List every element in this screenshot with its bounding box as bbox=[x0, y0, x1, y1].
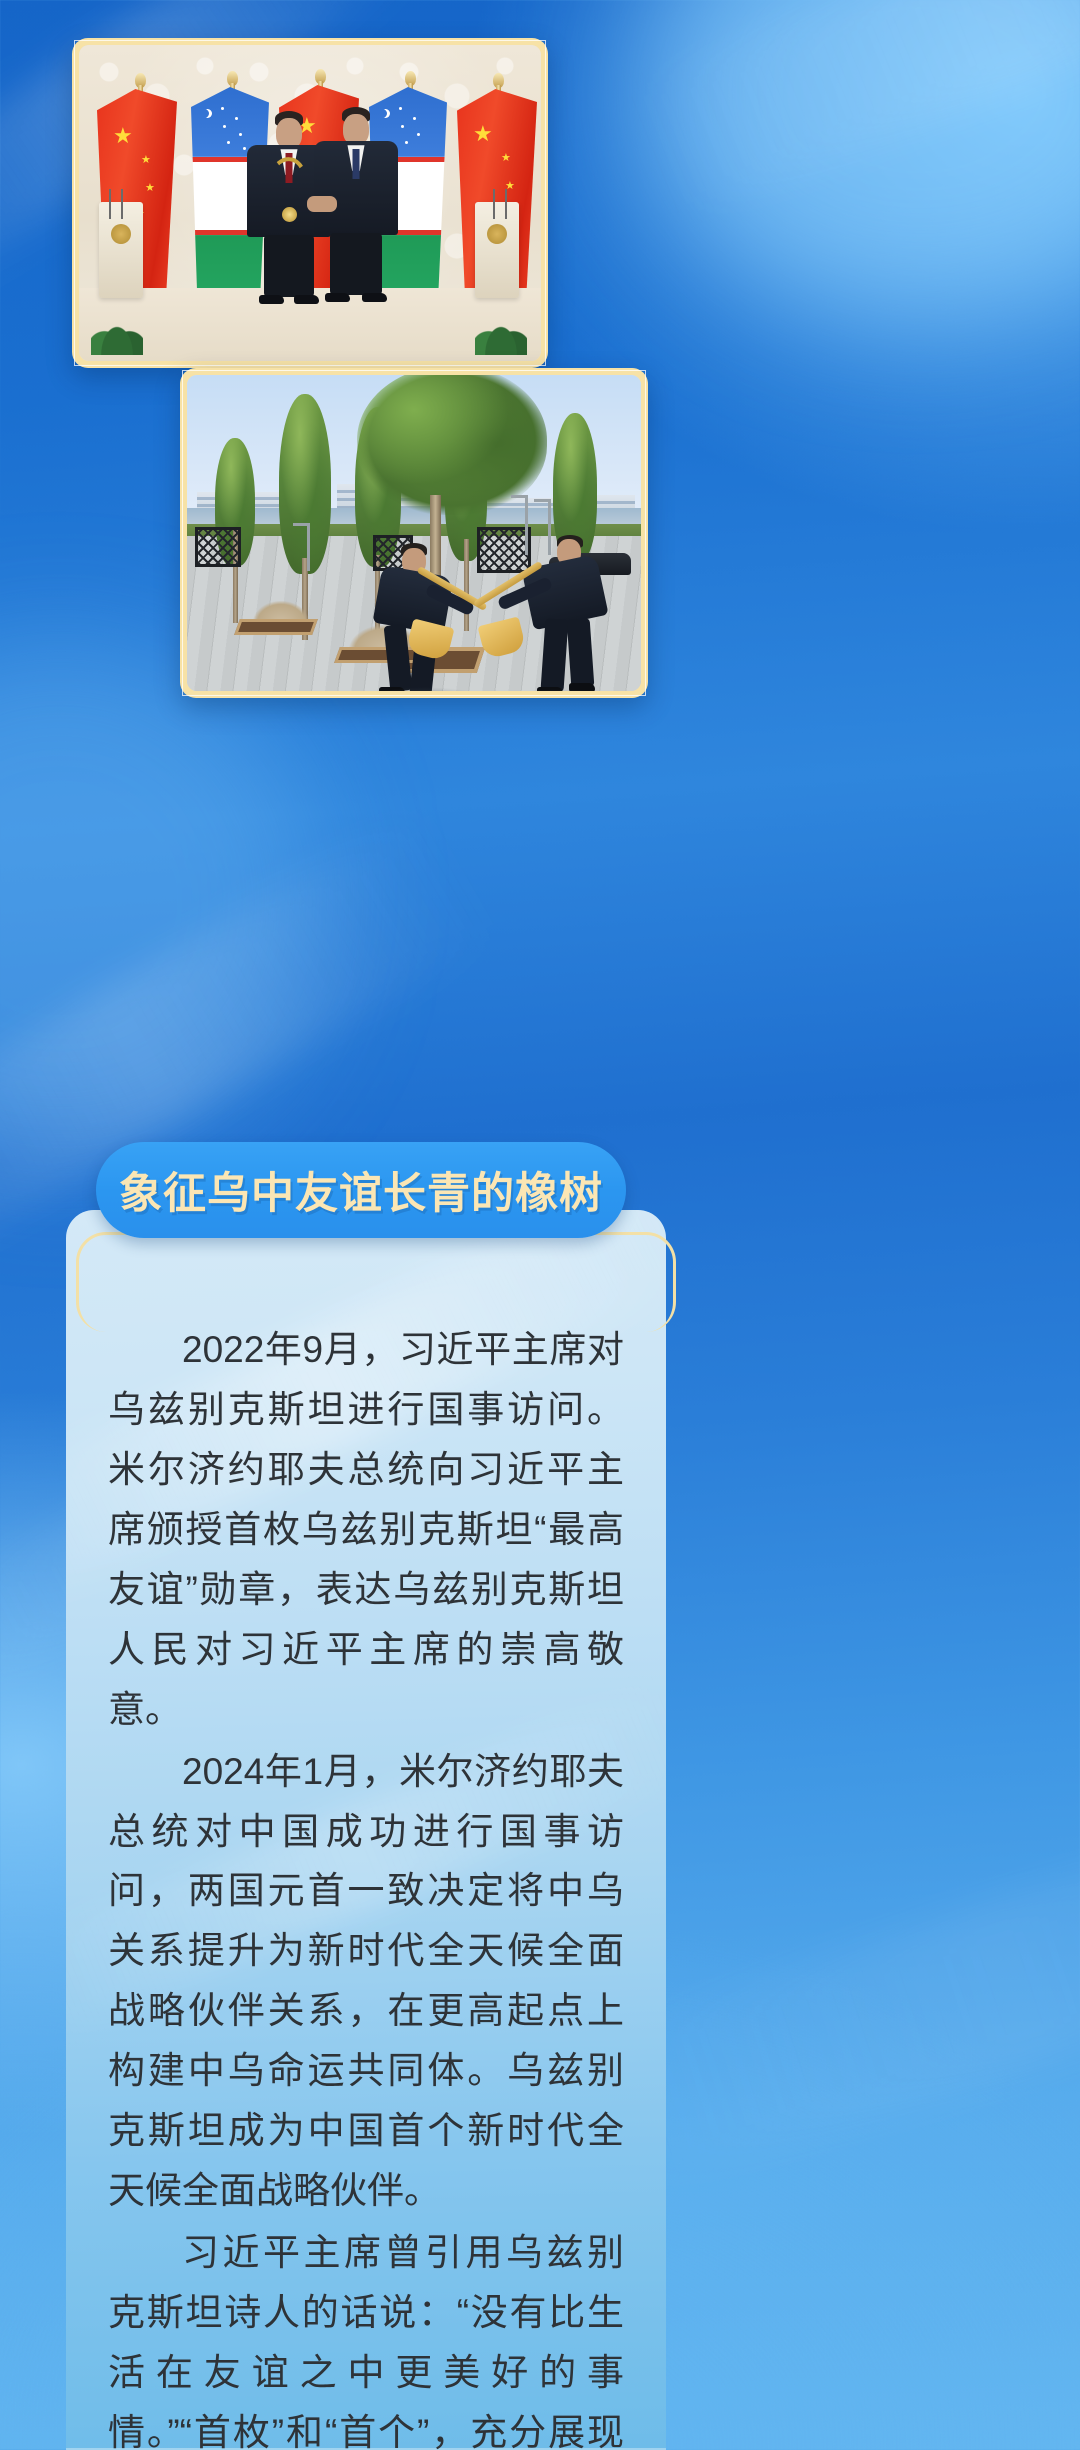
article-card: 2022年9月，习近平主席对乌兹别克斯坦进行国事访问。米尔济约耶夫总统向习近平主… bbox=[66, 1210, 666, 2450]
background-glow-top-right bbox=[640, 0, 1080, 320]
medal-ceremony-photo-frame: ★ ★ ★ ★ ★ ★ bbox=[72, 38, 548, 368]
handshake bbox=[307, 196, 337, 212]
article-body: 2022年9月，习近平主席对乌兹别克斯坦进行国事访问。米尔济约耶夫总统向习近平主… bbox=[66, 1320, 666, 2450]
page-title: 象征乌中友谊长青的橡树 bbox=[119, 1159, 603, 1221]
paragraph-3: 习近平主席曾引用乌兹别克斯坦诗人的话说：“没有比生活在友谊之中更美好的事情。”“… bbox=[108, 2223, 624, 2450]
oak-tree-crown bbox=[357, 375, 547, 515]
figure-planting-left bbox=[373, 543, 459, 691]
light-streak bbox=[620, 0, 1080, 227]
paragraph-2: 2024年1月，米尔济约耶夫总统对中国成功进行国事访问，两国元首一致决定将中乌关… bbox=[108, 1742, 624, 2222]
section-title-banner: 象征乌中友谊长青的橡树 bbox=[96, 1142, 626, 1238]
tree-planting-photo bbox=[187, 375, 641, 691]
medal-ceremony-photo: ★ ★ ★ ★ ★ ★ bbox=[79, 45, 541, 361]
figure-planting-right bbox=[515, 535, 607, 691]
background-glow-left bbox=[0, 640, 320, 1160]
paragraph-1: 2022年9月，习近平主席对乌兹别克斯坦进行国事访问。米尔济约耶夫总统向习近平主… bbox=[108, 1320, 624, 1740]
tree-planting-photo-frame bbox=[180, 368, 648, 698]
